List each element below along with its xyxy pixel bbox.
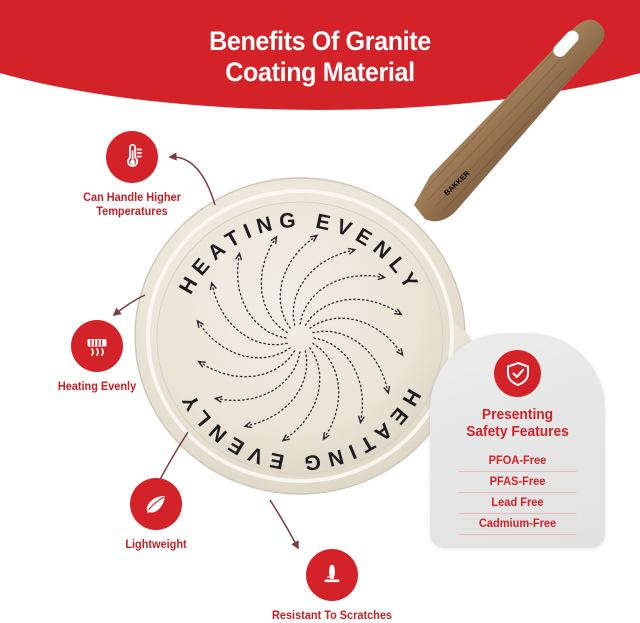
feature-heating-evenly[interactable]: Heating Evenly — [22, 320, 172, 394]
feature-label: Lightweight — [91, 538, 220, 552]
feature-resistant-to-scratches[interactable]: Resistant To Scratches — [239, 549, 425, 623]
safety-list: PFOA-Free PFAS-Free Lead Free Cadmium-Fr… — [456, 454, 579, 535]
safety-item: PFOA-Free — [458, 454, 576, 472]
shield-check-icon — [494, 350, 541, 397]
scratch-tool-icon — [306, 549, 358, 601]
safety-item: Cadmium-Free — [458, 517, 576, 535]
page-title-line-1: Benefits Of Granite — [22, 26, 617, 57]
feature-label: Heating Evenly — [26, 380, 169, 394]
heating-element-icon — [71, 320, 123, 372]
page-title-line-2: Coating Material — [22, 57, 617, 88]
safety-item: PFAS-Free — [458, 475, 576, 493]
safety-features-card: Presenting Safety Features PFOA-Free PFA… — [430, 333, 605, 548]
safety-title: Presenting Safety Features — [434, 407, 600, 441]
feature-can-handle-higher-temperatures[interactable]: Can Handle Higher Temperatures — [47, 131, 217, 219]
thermometer-icon — [106, 131, 158, 183]
feather-icon — [130, 478, 182, 530]
safety-item: Lead Free — [458, 496, 576, 514]
feature-label: Can Handle Higher Temperatures — [51, 191, 213, 219]
feature-lightweight[interactable]: Lightweight — [88, 478, 224, 552]
feature-label: Resistant To Scratches — [244, 609, 421, 623]
page-title: Benefits Of Granite Coating Material — [22, 26, 617, 87]
